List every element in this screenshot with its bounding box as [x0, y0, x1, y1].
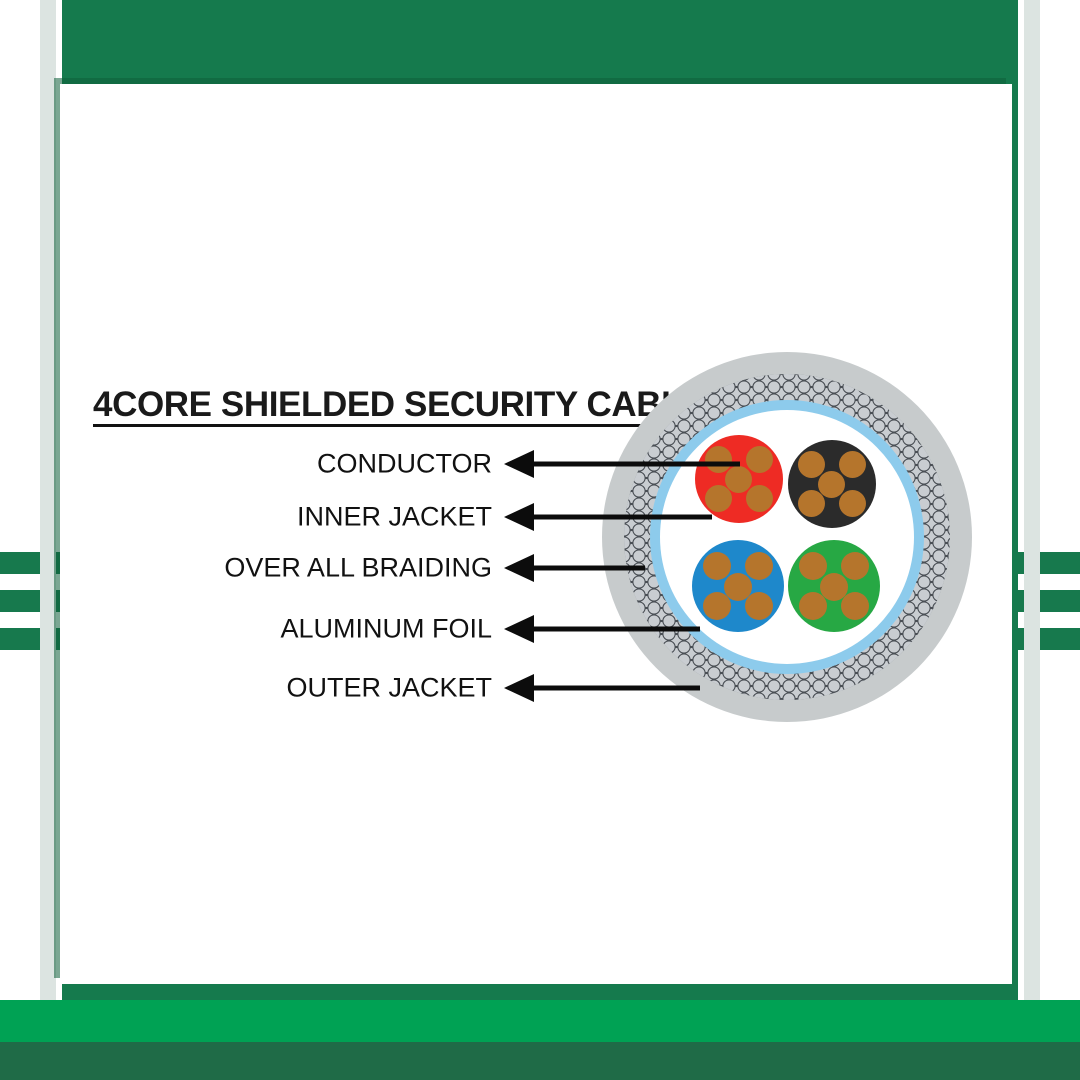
conductor-strand — [799, 552, 827, 580]
arrow-head-outer-jacket — [504, 674, 534, 702]
label-conductor: CONDUCTOR — [317, 449, 492, 480]
conductor-strand — [725, 466, 752, 493]
arrow-head-conductor — [504, 450, 534, 478]
arrow-line-aluminum-foil — [532, 627, 700, 632]
conductor-strand — [745, 592, 773, 620]
green-bottom-band-bright — [0, 1000, 1080, 1042]
conductor-strand — [703, 592, 731, 620]
conductor-strand — [798, 451, 825, 478]
poster-canvas: 4CORE SHIELDED SECURITY CABLE — [0, 0, 1080, 1080]
right-vertical-rail — [1024, 0, 1040, 1000]
cable-cross-section-diagram — [602, 352, 972, 722]
core-red — [695, 435, 783, 523]
label-overall-braiding: OVER ALL BRAIDING — [224, 553, 492, 584]
label-aluminum-foil: ALUMINUM FOIL — [280, 614, 492, 645]
arrow-head-inner-jacket — [504, 503, 534, 531]
arrow-line-conductor — [532, 462, 740, 467]
conductor-strand — [705, 485, 732, 512]
arrow-line-inner-jacket — [532, 515, 712, 520]
conductor-strand — [799, 592, 827, 620]
core-blue — [692, 540, 784, 632]
arrow-line-overall-braiding — [532, 566, 645, 571]
core-black — [788, 440, 876, 528]
arrow-head-aluminum-foil — [504, 615, 534, 643]
arrow-head-overall-braiding — [504, 554, 534, 582]
conductor-strand — [798, 490, 825, 517]
conductor-strand — [841, 592, 869, 620]
conductor-strand — [746, 446, 773, 473]
conductor-strand — [841, 552, 869, 580]
green-bottom-band-dark — [0, 1042, 1080, 1080]
conductor-strand — [839, 451, 866, 478]
label-outer-jacket: OUTER JACKET — [286, 673, 492, 704]
label-inner-jacket: INNER JACKET — [297, 502, 492, 533]
conductor-strand — [839, 490, 866, 517]
conductor-strand — [746, 485, 773, 512]
title-underline — [93, 424, 644, 427]
arrow-line-outer-jacket — [532, 686, 700, 691]
core-green — [788, 540, 880, 632]
conductor-strand — [745, 552, 773, 580]
conductor-strand — [818, 471, 845, 498]
conductor-strand — [705, 446, 732, 473]
conductor-strand — [703, 552, 731, 580]
